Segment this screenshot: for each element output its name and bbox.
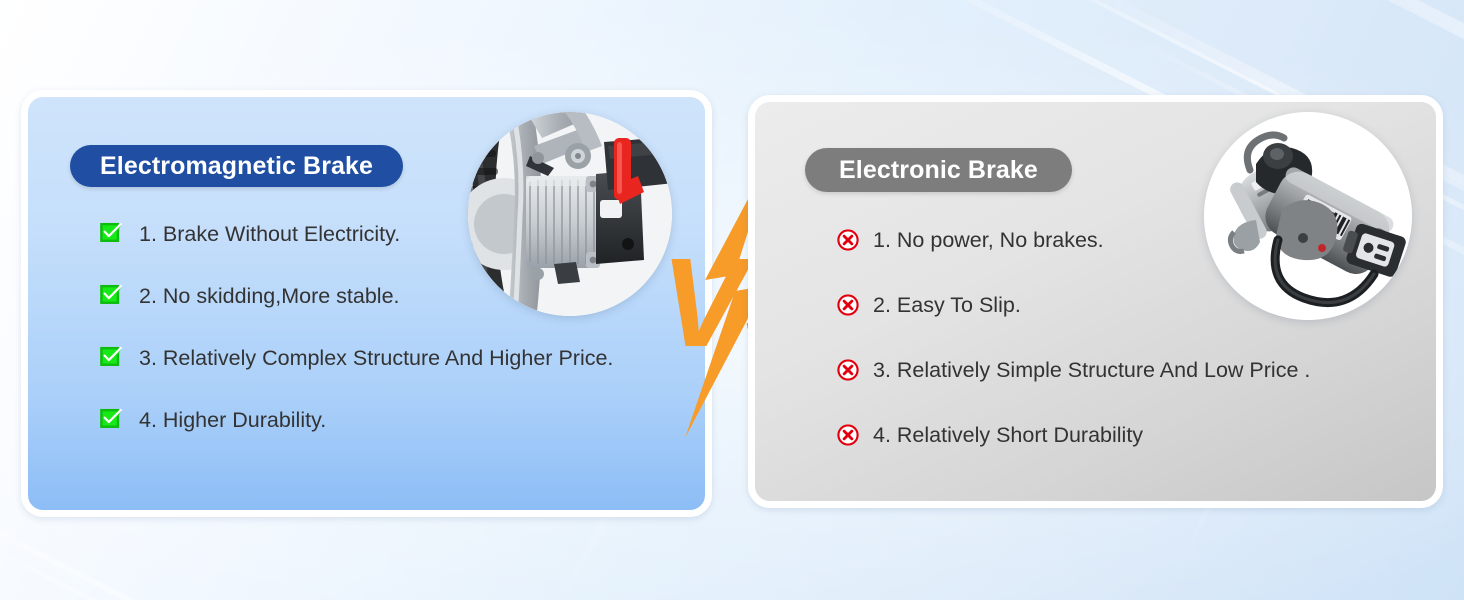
right-title-badge: Electronic Brake: [805, 148, 1072, 192]
list-item-label: 4. Relatively Short Durability: [873, 424, 1143, 447]
list-item-label: 2. Easy To Slip.: [873, 294, 1021, 317]
circle-cross-icon: [836, 228, 860, 257]
circle-cross-icon: [836, 423, 860, 452]
left-title-badge: Electromagnetic Brake: [70, 145, 403, 187]
list-item: 3. Relatively Complex Structure And High…: [100, 346, 700, 373]
circle-cross-icon: [836, 293, 860, 322]
electromagnetic-brake-photo: [468, 112, 672, 316]
infographic-canvas: Electromagnetic Brake 1. Brake Without E…: [0, 0, 1464, 600]
list-item-label: 1. Brake Without Electricity.: [139, 223, 400, 246]
list-item-label: 2. No skidding,More stable.: [139, 285, 400, 308]
list-item-label: 1. No power, No brakes.: [873, 229, 1104, 252]
check-box-icon: [100, 408, 124, 435]
list-item-label: 4. Higher Durability.: [139, 409, 326, 432]
check-box-icon: [100, 222, 124, 249]
circle-cross-icon: [836, 358, 860, 387]
list-item-label: 3. Relatively Complex Structure And High…: [139, 347, 613, 370]
check-box-icon: [100, 284, 124, 311]
list-item-label: 3. Relatively Simple Structure And Low P…: [873, 359, 1310, 382]
list-item: 3. Relatively Simple Structure And Low P…: [836, 358, 1436, 387]
check-box-icon: [100, 346, 124, 373]
list-item: 4. Higher Durability.: [100, 408, 700, 435]
left-title-text: Electromagnetic Brake: [100, 152, 373, 181]
right-title-text: Electronic Brake: [839, 156, 1038, 185]
electronic-brake-photo: [1204, 112, 1412, 320]
list-item: 4. Relatively Short Durability: [836, 423, 1436, 452]
